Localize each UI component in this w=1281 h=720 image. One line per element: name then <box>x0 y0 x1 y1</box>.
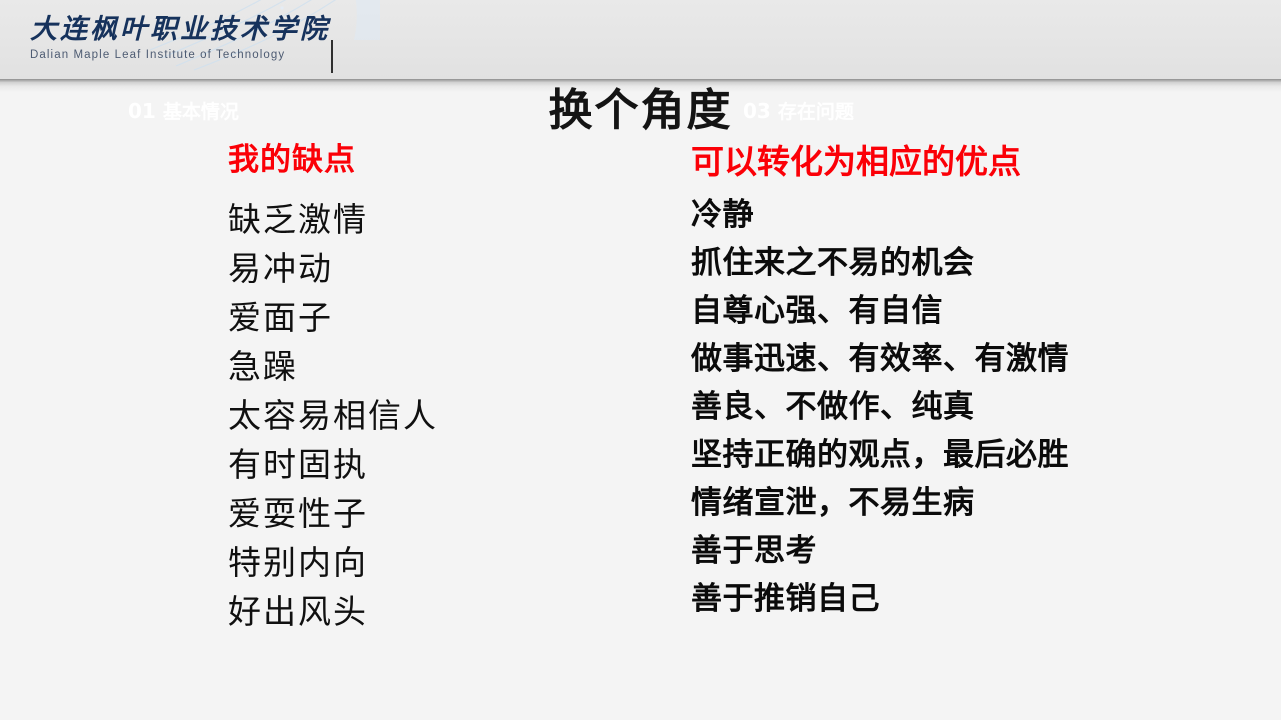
list-item: 情绪宣泄，不易生病 <box>691 479 1251 527</box>
section-number: 01 <box>128 99 156 123</box>
section-watermark-basic-info: 01基本情况 <box>128 101 239 122</box>
list-item: 坚持正确的观点，最后必胜 <box>691 431 1251 479</box>
list-item: 冷静 <box>691 191 1251 239</box>
section-label: 存在问题 <box>778 101 854 123</box>
column-strengths: 可以转化为相应的优点 冷静 抓住来之不易的机会 自尊心强、有自信 做事迅速、有效… <box>691 145 1251 623</box>
list-item: 爱耍性子 <box>228 489 668 538</box>
list-item: 做事迅速、有效率、有激情 <box>691 335 1251 383</box>
list-item: 太容易相信人 <box>228 391 668 440</box>
weakness-list: 缺乏激情 易冲动 爱面子 急躁 太容易相信人 有时固执 爱耍性子 特别内向 好出… <box>228 195 668 636</box>
slide-header-band: 大连枫叶职业技术学院 Dalian Maple Leaf Institute o… <box>0 0 1281 79</box>
column-weaknesses: 我的缺点 缺乏激情 易冲动 爱面子 急躁 太容易相信人 有时固执 爱耍性子 特别… <box>228 145 668 636</box>
list-item: 善于推销自己 <box>691 575 1251 623</box>
header-bottom-rule <box>0 79 1281 82</box>
institution-name-cn: 大连枫叶职业技术学院 <box>30 16 315 44</box>
section-number: 03 <box>743 99 771 123</box>
list-item: 急躁 <box>228 342 668 391</box>
list-item: 有时固执 <box>228 440 668 489</box>
list-item: 爱面子 <box>228 293 668 342</box>
column-heading-weaknesses: 我的缺点 <box>228 145 668 176</box>
list-item: 抓住来之不易的机会 <box>691 239 1251 287</box>
list-item: 好出风头 <box>228 587 668 636</box>
logo-divider <box>331 40 333 73</box>
slide-content: 我的缺点 缺乏激情 易冲动 爱面子 急躁 太容易相信人 有时固执 爱耍性子 特别… <box>0 145 1281 705</box>
list-item: 善于思考 <box>691 527 1251 575</box>
institution-logo: 大连枫叶职业技术学院 Dalian Maple Leaf Institute o… <box>30 16 315 61</box>
list-item: 易冲动 <box>228 244 668 293</box>
list-item: 特别内向 <box>228 538 668 587</box>
column-heading-strengths: 可以转化为相应的优点 <box>691 145 1251 178</box>
section-watermark-existing-problems: 03存在问题 <box>743 101 854 122</box>
section-label: 基本情况 <box>163 101 239 123</box>
list-item: 自尊心强、有自信 <box>691 287 1251 335</box>
strength-list: 冷静 抓住来之不易的机会 自尊心强、有自信 做事迅速、有效率、有激情 善良、不做… <box>691 191 1251 623</box>
list-item: 缺乏激情 <box>228 195 668 244</box>
list-item: 善良、不做作、纯真 <box>691 383 1251 431</box>
institution-name-en: Dalian Maple Leaf Institute of Technolog… <box>30 49 315 61</box>
